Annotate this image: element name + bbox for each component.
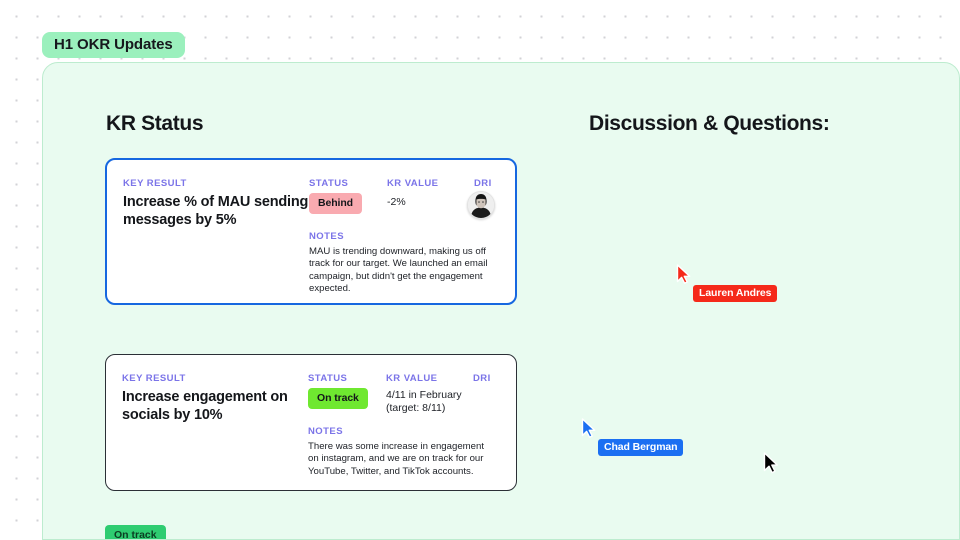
avatar[interactable]: [467, 191, 495, 219]
collaborator-name-label: Lauren Andres: [693, 285, 777, 302]
column-label-dri: DRI: [474, 178, 492, 189]
frame-title-chip[interactable]: H1 OKR Updates: [42, 32, 185, 58]
discussion-questions-heading: Discussion & Questions:: [589, 112, 830, 136]
collaborator-cursor-chad-bergman: Chad Bergman: [581, 418, 597, 438]
okr-frame[interactable]: KR Status Discussion & Questions: KEY RE…: [42, 62, 960, 540]
column-label-status: STATUS: [309, 178, 348, 189]
column-label-dri: DRI: [473, 373, 491, 384]
kr-status-heading: KR Status: [106, 112, 203, 136]
status-badge[interactable]: On track: [308, 388, 368, 409]
figjam-board-canvas[interactable]: H1 OKR Updates KR Status Discussion & Qu…: [0, 0, 960, 540]
collaborator-name-label: Chad Bergman: [598, 439, 683, 456]
kr-value: -2%: [387, 196, 406, 209]
column-label-notes: NOTES: [308, 426, 343, 437]
kr-value: 4/11 in February (target: 8/11): [386, 389, 462, 415]
kr-notes: MAU is trending downward, making us off …: [309, 246, 489, 296]
status-badge[interactable]: Behind: [309, 193, 362, 214]
kr-title: Increase % of MAU sending messages by 5%: [123, 193, 313, 229]
kr-card[interactable]: KEY RESULT Increase engagement on social…: [105, 354, 517, 491]
column-label-status: STATUS: [308, 373, 347, 384]
column-label-kr-value: KR VALUE: [386, 373, 437, 384]
collaborator-cursor-lauren-andres: Lauren Andres: [676, 264, 692, 284]
column-label-notes: NOTES: [309, 231, 344, 242]
column-label-kr-value: KR VALUE: [387, 178, 438, 189]
kr-card[interactable]: KEY RESULT Increase % of MAU sending mes…: [105, 158, 517, 305]
column-label-key-result: KEY RESULT: [122, 373, 186, 384]
mouse-pointer-icon: [763, 452, 779, 474]
kr-title: Increase engagement on socials by 10%: [122, 388, 312, 424]
status-badge[interactable]: On track: [105, 525, 166, 540]
column-label-key-result: KEY RESULT: [123, 178, 187, 189]
kr-notes: There was some increase in engagement on…: [308, 441, 488, 478]
